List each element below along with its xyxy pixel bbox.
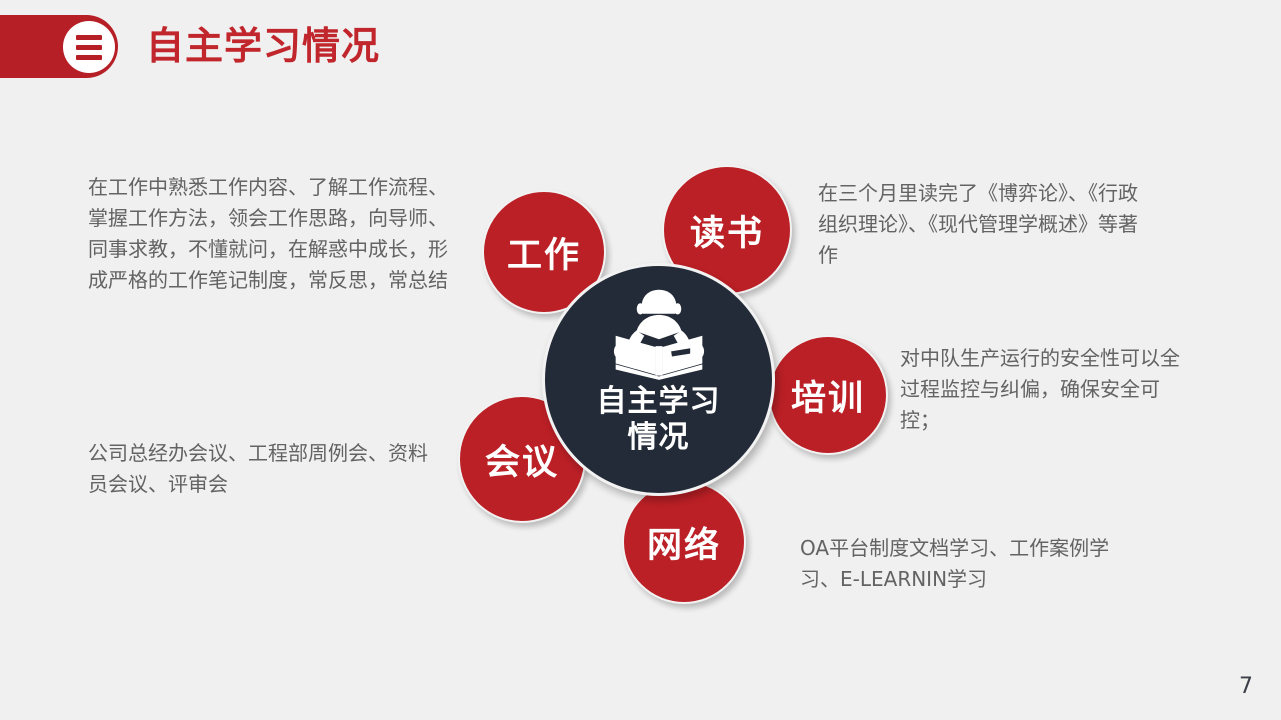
description-work: 在工作中熟悉工作内容、了解工作流程、掌握工作方法，领会工作思路，向导师、同事求教… (88, 172, 466, 296)
petal-meeting-label: 会议 (485, 434, 559, 485)
petal-train[interactable]: 培训 (768, 335, 888, 455)
page-number: 7 (1239, 674, 1253, 700)
description-train: 对中队生产运行的安全性可以全过程监控与纠偏，确保安全可控； (900, 343, 1185, 436)
petal-work-label: 工作 (507, 227, 581, 278)
hamburger-line-1 (76, 35, 102, 40)
petal-network[interactable]: 网络 (622, 480, 746, 604)
person-reading-book-icon (607, 288, 711, 380)
hamburger-line-2 (76, 45, 102, 50)
hamburger-three-lines-icon (63, 21, 115, 73)
slide-root: 自主学习情况 工作 读书 培训 网络 会议 (0, 0, 1281, 720)
page-title: 自主学习情况 (146, 22, 380, 70)
petal-train-label: 培训 (791, 370, 865, 421)
petal-read-label: 读书 (690, 205, 764, 256)
hamburger-line-3 (76, 55, 102, 60)
diagram-center-label-line2: 情况 (597, 420, 721, 456)
description-network: OA平台制度文档学习、工作案例学习、E-LEARNIN学习 (800, 533, 1130, 595)
diagram-center[interactable]: 自主学习 情况 (542, 263, 775, 496)
diagram-center-label: 自主学习 情况 (597, 384, 721, 456)
diagram-center-label-line1: 自主学习 (597, 384, 721, 420)
description-meeting: 公司总经办会议、工程部周例会、资料员会议、评审会 (88, 438, 440, 500)
description-read: 在三个月里读完了《博弈论》、《行政组织理论》、《现代管理学概述》等著作 (818, 178, 1140, 271)
petal-network-label: 网络 (647, 517, 721, 568)
